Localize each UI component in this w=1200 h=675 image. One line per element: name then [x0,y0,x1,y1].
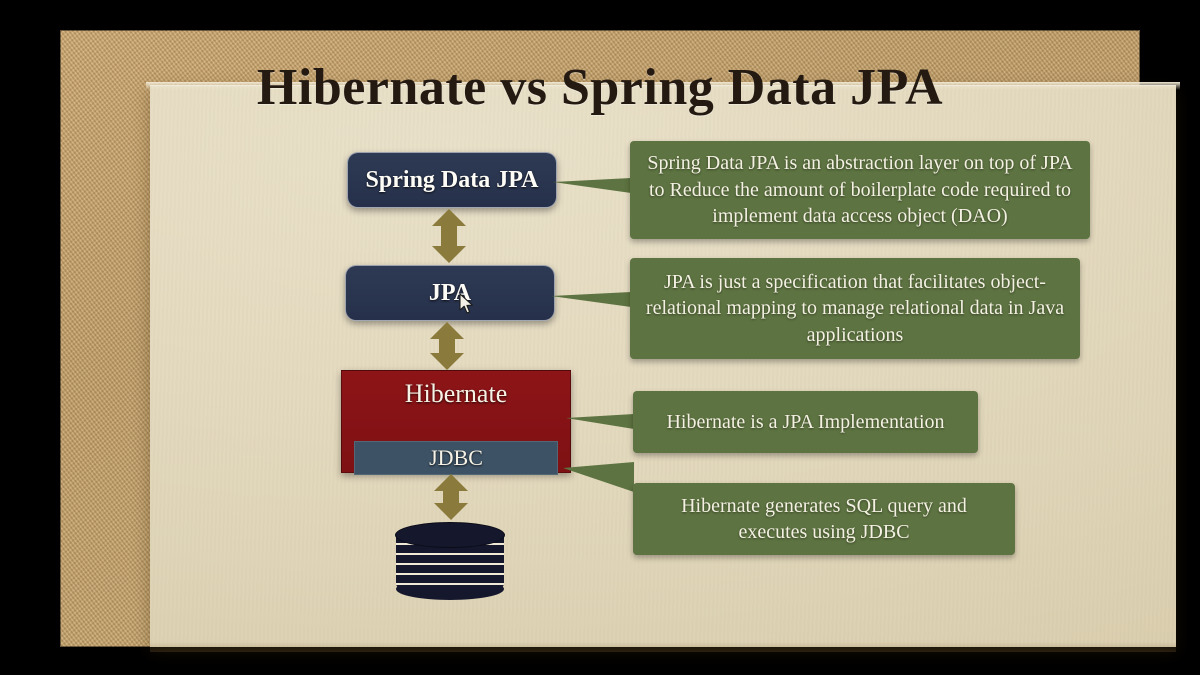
callout-text: JPA is just a specification that facilit… [644,269,1066,348]
layer-box-jpa[interactable]: JPA [345,265,555,321]
arrow-jpa-hibernate-icon [430,322,464,370]
callout-text: Hibernate generates SQL query and execut… [647,493,1001,546]
callout-tail-jpa [551,292,631,307]
callout-jpa: JPA is just a specification that facilit… [630,258,1080,359]
layer-box-jdbc[interactable]: JDBC [354,441,558,475]
slide-stage: Hibernate vs Spring Data JPA Spring Data… [0,0,1200,675]
layer-label-hibernate: Hibernate [342,379,570,409]
callout-text: Spring Data JPA is an abstraction layer … [644,150,1076,229]
layer-label-jdbc: JDBC [429,445,483,471]
callout-tail-spring-data-jpa [553,178,631,193]
callout-tail-hibernate-impl [566,414,634,429]
callout-spring-data-jpa: Spring Data JPA is an abstraction layer … [630,141,1090,239]
callout-hibernate-sql: Hibernate generates SQL query and execut… [633,483,1015,555]
arrow-hibernate-database-icon [434,474,468,520]
layer-box-hibernate[interactable]: Hibernate JDBC [341,370,571,473]
callout-tail-hibernate-sql [563,462,634,492]
callout-text: Hibernate is a JPA Implementation [666,409,944,435]
mouse-cursor-icon [459,293,475,315]
database-cylinder-icon [396,523,504,595]
callout-hibernate-impl: Hibernate is a JPA Implementation [633,391,978,453]
layer-box-spring-data-jpa[interactable]: Spring Data JPA [347,152,557,208]
layer-label-spring-data-jpa: Spring Data JPA [366,167,539,194]
page-title: Hibernate vs Spring Data JPA [0,58,1200,117]
arrow-sdjpa-jpa-icon [432,209,466,263]
